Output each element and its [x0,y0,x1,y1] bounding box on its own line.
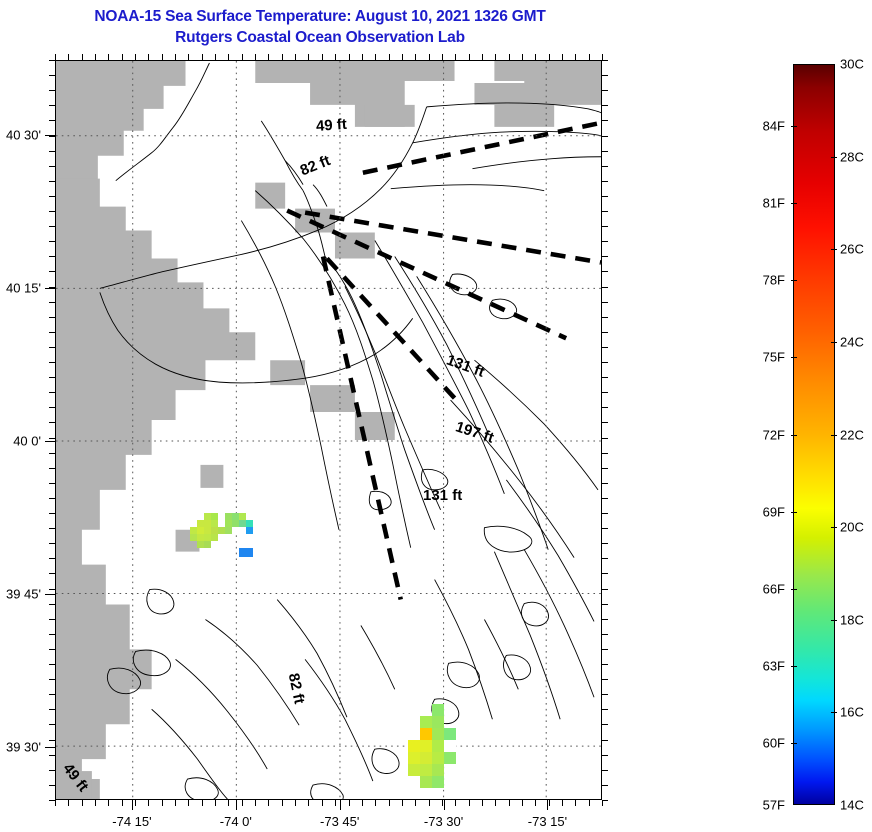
y-axis-minor-tick [49,619,55,620]
y-axis-minor-tick [49,75,55,76]
colorbar-label-fahrenheit: 78F [733,273,785,288]
y-axis-minor-tick [49,800,55,801]
x-axis-minor-tick [162,800,163,806]
y-axis-minor-tick [49,634,55,635]
depth-contour-label: 49 ft [315,116,347,135]
sst-pixel [232,520,239,527]
y-axis-minor-tick-right [602,468,608,469]
sst-pixel [408,740,420,752]
colorbar-gradient [793,64,835,805]
x-axis-minor-tick-top [509,54,510,60]
x-axis-minor-tick [148,800,149,806]
x-axis-minor-tick-top [268,54,269,60]
y-axis-minor-tick [49,483,55,484]
y-axis-minor-tick-right [602,770,608,771]
title-line-2: Rutgers Coastal Ocean Observation Lab [0,27,640,48]
sst-pixel [239,520,246,527]
sst-pixel [420,776,432,788]
colorbar-tick-fahrenheit [791,589,797,590]
y-axis-minor-tick-right [602,211,608,212]
y-axis-minor-tick [49,498,55,499]
y-axis-minor-tick-right [602,271,608,272]
x-axis-minor-tick [95,800,96,806]
y-axis-major-tick [45,594,55,595]
y-axis-minor-tick [49,120,55,121]
y-axis-minor-tick [49,664,55,665]
sst-pixel [190,527,197,534]
y-axis-minor-tick-right [602,724,608,725]
colorbar-tick-fahrenheit [791,435,797,436]
y-axis-minor-tick [49,785,55,786]
x-axis-minor-tick [268,800,269,806]
y-axis-minor-tick-right [602,513,608,514]
sst-pixel [218,520,225,527]
y-axis-minor-tick [49,60,55,61]
x-axis-minor-tick [549,800,550,806]
x-axis-minor-tick [135,800,136,806]
sst-pixel [239,527,246,534]
x-axis-minor-tick [389,800,390,806]
x-axis-minor-tick [482,800,483,806]
y-axis-minor-tick [49,105,55,106]
y-axis-minor-tick [49,770,55,771]
y-axis-minor-tick-right [602,196,608,197]
y-axis-minor-tick [49,453,55,454]
sst-pixel [444,740,456,752]
y-axis-minor-tick [49,196,55,197]
y-axis-minor-tick-right [602,105,608,106]
y-axis-minor-tick-right [602,528,608,529]
colorbar-label-celsius: 16C [840,705,864,720]
title-line-1: NOAA-15 Sea Surface Temperature: August … [0,6,640,27]
y-axis-minor-tick-right [602,377,608,378]
x-axis-minor-tick-top [188,54,189,60]
y-axis-minor-tick-right [602,558,608,559]
y-axis-label: 40 15' [0,280,41,295]
colorbar-tick-celsius [831,620,837,621]
sst-pixel [444,752,456,764]
x-axis-major-tick [340,800,341,810]
y-axis-minor-tick-right [602,589,608,590]
sst-pixel [432,740,444,752]
sst-pixel [246,527,253,534]
y-axis-minor-tick-right [602,120,608,121]
colorbar-tick-fahrenheit [791,666,797,667]
x-axis-minor-tick-top [362,54,363,60]
sst-pixel [204,541,211,548]
x-axis-minor-tick [495,800,496,806]
colorbar-label-fahrenheit: 63F [733,659,785,674]
sst-pixel [218,534,225,541]
y-axis-minor-tick-right [602,634,608,635]
x-axis-minor-tick [335,800,336,806]
colorbar-label-celsius: 26C [840,242,864,257]
sst-pixel [225,527,232,534]
sst-pixel [204,527,211,534]
sst-pixel [432,716,444,728]
y-axis-minor-tick-right [602,649,608,650]
y-axis-minor-tick [49,724,55,725]
colorbar-tick-fahrenheit [791,203,797,204]
colorbar-tick-fahrenheit [791,280,797,281]
sst-pixel [211,534,218,541]
x-axis-minor-tick-top [589,54,590,60]
y-axis-minor-tick [49,332,55,333]
y-axis-label: 40 0' [0,434,41,449]
x-axis-minor-tick-top [482,54,483,60]
x-axis-minor-tick [82,800,83,806]
colorbar-label-celsius: 28C [840,149,864,164]
x-axis-minor-tick-top [495,54,496,60]
sst-data-layer [56,61,602,800]
colorbar-label-celsius: 30C [840,57,864,72]
x-axis-minor-tick [469,800,470,806]
x-axis-minor-tick [55,800,56,806]
y-axis-minor-tick-right [602,287,608,288]
y-axis-label: 39 45' [0,586,41,601]
sst-pixel [432,704,444,716]
y-axis-minor-tick-right [602,317,608,318]
colorbar-tick-celsius [831,342,837,343]
x-axis-minor-tick [295,800,296,806]
y-axis-minor-tick-right [602,785,608,786]
x-axis-label: -74 15' [112,814,151,829]
x-axis-minor-tick-top [295,54,296,60]
y-axis-major-tick [45,747,55,748]
sst-pixel [239,548,253,557]
y-axis-minor-tick-right [602,604,608,605]
y-axis-major-tick [45,288,55,289]
x-axis-minor-tick-top [349,54,350,60]
sst-pixel [432,728,444,740]
southern-patch-offshore [408,704,456,788]
sst-pixel [190,534,197,541]
x-axis-minor-tick [429,800,430,806]
colorbar-tick-fahrenheit [791,743,797,744]
x-axis-minor-tick [589,800,590,806]
x-axis-minor-tick [242,800,243,806]
x-axis-minor-tick-top [175,54,176,60]
x-axis-minor-tick-top [282,54,283,60]
y-axis-minor-tick [49,90,55,91]
y-axis-label: 40 30' [0,128,41,143]
sst-pixel [420,764,432,776]
x-axis-minor-tick-top [255,54,256,60]
y-axis-minor-tick-right [602,543,608,544]
y-axis-minor-tick-right [602,60,608,61]
colorbar-label-celsius: 14C [840,798,864,813]
sst-pixel [232,527,239,534]
x-axis-minor-tick-top [202,54,203,60]
sst-pixel [204,520,211,527]
x-axis-label: -73 15' [528,814,567,829]
x-axis-minor-tick-top [228,54,229,60]
x-axis-minor-tick-top [535,54,536,60]
colorbar-tick-celsius [831,527,837,528]
x-axis-minor-tick [349,800,350,806]
colorbar-tick-fahrenheit [791,357,797,358]
colorbar-label-celsius: 20C [840,520,864,535]
sst-pixel [432,764,444,776]
sst-pixel [218,513,225,520]
x-axis-minor-tick-top [429,54,430,60]
colorbar-label-celsius: 18C [840,612,864,627]
sst-pixel [211,513,218,520]
y-axis-minor-tick-right [602,679,608,680]
y-axis-minor-tick [49,468,55,469]
x-axis-minor-tick-top [308,54,309,60]
x-axis-minor-tick [202,800,203,806]
x-axis-minor-tick [575,800,576,806]
y-axis-minor-tick [49,694,55,695]
sst-pixel [211,541,218,548]
y-axis-minor-tick-right [602,362,608,363]
y-axis-minor-tick [49,317,55,318]
y-axis-minor-tick [49,679,55,680]
y-axis-minor-tick [49,377,55,378]
sst-pixel [232,513,239,520]
y-axis-minor-tick [49,709,55,710]
y-axis-minor-tick [49,181,55,182]
y-axis-minor-tick-right [602,800,608,801]
y-axis-major-tick [45,135,55,136]
x-axis-minor-tick-top [108,54,109,60]
colorbar-label-fahrenheit: 75F [733,350,785,365]
colorbar-tick-celsius [831,157,837,158]
y-axis-minor-tick-right [602,694,608,695]
y-axis-label: 39 30' [0,740,41,755]
colorbar-label-fahrenheit: 72F [733,427,785,442]
x-axis-minor-tick-top [55,54,56,60]
sst-pixel [197,520,204,527]
x-axis-minor-tick-top [148,54,149,60]
y-axis-minor-tick [49,513,55,514]
y-axis-minor-tick [49,604,55,605]
y-axis-minor-tick-right [602,438,608,439]
sst-pixel [225,513,232,520]
chart-title-block: NOAA-15 Sea Surface Temperature: August … [0,6,640,48]
sst-pixel [432,776,444,788]
y-axis-minor-tick-right [602,332,608,333]
x-axis-minor-tick-top [562,54,563,60]
y-axis-minor-tick [49,362,55,363]
y-axis-minor-tick [49,422,55,423]
x-axis-label: -74 0' [220,814,252,829]
y-axis-minor-tick-right [602,709,608,710]
sst-pixel [204,513,211,520]
colorbar-tick-celsius [831,249,837,250]
sst-pixel [225,520,232,527]
x-axis-major-tick [444,800,445,810]
x-axis-minor-tick-top [242,54,243,60]
y-axis-minor-tick-right [602,755,608,756]
x-axis-label: -73 45' [320,814,359,829]
colorbar-label-fahrenheit: 60F [733,736,785,751]
y-axis-minor-tick [49,649,55,650]
depth-contour-label: 131 ft [423,487,462,504]
x-axis-minor-tick [402,800,403,806]
x-axis-minor-tick [215,800,216,806]
sst-pixel [420,716,432,728]
sst-pixel [408,764,420,776]
x-axis-minor-tick [175,800,176,806]
sst-pixel [239,513,246,520]
x-axis-minor-tick [255,800,256,806]
y-axis-minor-tick [49,166,55,167]
x-axis-minor-tick-top [415,54,416,60]
y-axis-minor-tick-right [602,453,608,454]
y-axis-minor-tick [49,226,55,227]
x-axis-minor-tick-top [322,54,323,60]
colorbar-label-fahrenheit: 66F [733,581,785,596]
x-axis-minor-tick-top [402,54,403,60]
sst-pixel [204,548,211,555]
colorbar-label-fahrenheit: 81F [733,195,785,210]
sst-pixel [218,527,225,534]
y-axis-minor-tick-right [602,498,608,499]
x-axis-minor-tick-top [82,54,83,60]
x-axis-minor-tick [362,800,363,806]
x-axis-major-tick [132,800,133,810]
colorbar-label-fahrenheit: 84F [733,118,785,133]
y-axis-minor-tick-right [602,226,608,227]
y-axis-minor-tick [49,543,55,544]
x-axis-minor-tick-top [335,54,336,60]
northern-patch-barnegat [190,513,253,557]
x-axis-minor-tick-top [575,54,576,60]
x-axis-minor-tick-top [375,54,376,60]
y-axis-minor-tick [49,573,55,574]
y-axis-minor-tick-right [602,151,608,152]
sst-pixel [246,520,253,527]
sst-pixel [197,527,204,534]
x-axis-minor-tick-top [549,54,550,60]
x-axis-minor-tick [188,800,189,806]
x-axis-minor-tick [375,800,376,806]
sst-pixel [432,752,444,764]
x-axis-minor-tick [282,800,283,806]
x-axis-minor-tick-top [469,54,470,60]
colorbar-label-fahrenheit: 57F [733,798,785,813]
y-axis-minor-tick-right [602,166,608,167]
y-axis-minor-tick [49,740,55,741]
x-axis-minor-tick-top [522,54,523,60]
colorbar-tick-fahrenheit [791,126,797,127]
sst-pixel [420,740,432,752]
x-axis-minor-tick-top [135,54,136,60]
x-axis-minor-tick-top [215,54,216,60]
x-axis-minor-tick-top [389,54,390,60]
y-axis-minor-tick-right [602,619,608,620]
x-axis-minor-tick [108,800,109,806]
x-axis-minor-tick [455,800,456,806]
y-axis-minor-tick [49,558,55,559]
y-axis-minor-tick [49,211,55,212]
colorbar-label-celsius: 22C [840,427,864,442]
x-axis-major-tick [236,800,237,810]
sst-pixel [197,541,204,548]
x-axis-minor-tick-top [455,54,456,60]
x-axis-minor-tick-top [162,54,163,60]
x-axis-minor-tick-top [68,54,69,60]
x-axis-label: -73 30' [424,814,463,829]
x-axis-minor-tick [322,800,323,806]
y-axis-minor-tick-right [602,347,608,348]
y-axis-minor-tick [49,256,55,257]
x-axis-minor-tick-top [442,54,443,60]
colorbar-tick-fahrenheit [791,512,797,513]
y-axis-minor-tick-right [602,664,608,665]
y-axis-minor-tick [49,347,55,348]
y-axis-minor-tick-right [602,302,608,303]
sst-pixel [197,534,204,541]
y-axis-minor-tick [49,271,55,272]
x-axis-minor-tick-top [122,54,123,60]
colorbar-tick-celsius [831,712,837,713]
x-axis-minor-tick [68,800,69,806]
y-axis-minor-tick-right [602,181,608,182]
x-axis-major-tick [547,800,548,810]
y-axis-minor-tick-right [602,740,608,741]
y-axis-minor-tick [49,302,55,303]
y-axis-minor-tick-right [602,256,608,257]
sst-pixel [420,752,432,764]
y-axis-minor-tick [49,392,55,393]
sst-map-frame [55,60,602,800]
y-axis-minor-tick [49,407,55,408]
y-axis-minor-tick-right [602,422,608,423]
y-axis-minor-tick [49,528,55,529]
x-axis-minor-tick-top [95,54,96,60]
y-axis-minor-tick-right [602,407,608,408]
x-axis-minor-tick [122,800,123,806]
colorbar-label-fahrenheit: 69F [733,504,785,519]
sst-pixel [211,527,218,534]
y-axis-major-tick [45,441,55,442]
temperature-colorbar[interactable] [793,64,835,805]
y-axis-minor-tick-right [602,136,608,137]
y-axis-minor-tick [49,438,55,439]
y-axis-minor-tick-right [602,241,608,242]
x-axis-minor-tick [562,800,563,806]
y-axis-minor-tick [49,755,55,756]
x-axis-minor-tick [535,800,536,806]
sst-pixel [204,534,211,541]
y-axis-minor-tick-right [602,90,608,91]
sst-pixel [408,752,420,764]
x-axis-minor-tick [308,800,309,806]
y-axis-minor-tick [49,589,55,590]
x-axis-minor-tick [228,800,229,806]
y-axis-minor-tick-right [602,573,608,574]
y-axis-minor-tick [49,151,55,152]
y-axis-minor-tick-right [602,483,608,484]
sst-pixel [444,728,456,740]
y-axis-minor-tick [49,241,55,242]
colorbar-label-celsius: 24C [840,334,864,349]
sst-pixel [211,520,218,527]
y-axis-minor-tick-right [602,75,608,76]
x-axis-minor-tick [509,800,510,806]
sst-pixel [225,534,232,541]
colorbar-tick-celsius [831,435,837,436]
y-axis-minor-tick-right [602,392,608,393]
x-axis-minor-tick [522,800,523,806]
sst-pixel [420,728,432,740]
x-axis-minor-tick [415,800,416,806]
